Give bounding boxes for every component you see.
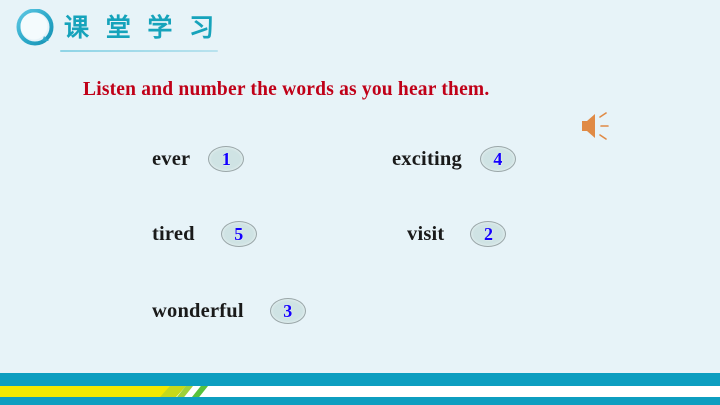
slide-header: 课 堂 学 习 xyxy=(14,6,314,54)
number-bubble[interactable]: 2 xyxy=(470,221,506,247)
number-bubble[interactable]: 3 xyxy=(270,298,306,324)
page-title: 课 堂 学 习 xyxy=(64,13,218,43)
word-item-visit[interactable]: visit 2 xyxy=(407,217,506,251)
word-label: wonderful xyxy=(152,300,244,323)
title-underline xyxy=(60,50,218,52)
word-item-exciting[interactable]: exciting 4 xyxy=(392,142,516,176)
footer-decoration xyxy=(0,373,720,405)
footer-band-bottom xyxy=(0,397,720,405)
number-value: 2 xyxy=(484,225,493,243)
word-item-ever[interactable]: ever 1 xyxy=(152,142,244,176)
word-label: exciting xyxy=(392,148,462,171)
number-value: 5 xyxy=(234,225,243,243)
word-item-tired[interactable]: tired 5 xyxy=(152,217,257,251)
number-bubble[interactable]: 1 xyxy=(208,146,244,172)
word-row: tired 5 visit 2 xyxy=(0,217,720,257)
number-bubble[interactable]: 5 xyxy=(221,221,257,247)
word-row: ever 1 exciting 4 xyxy=(0,142,720,182)
number-value: 3 xyxy=(283,302,292,320)
number-value: 4 xyxy=(493,150,502,168)
number-bubble[interactable]: 4 xyxy=(480,146,516,172)
word-item-wonderful[interactable]: wonderful 3 xyxy=(152,294,306,328)
word-label: visit xyxy=(407,223,444,246)
word-label: tired xyxy=(152,223,195,246)
footer-yellow-stripe xyxy=(0,386,172,397)
number-value: 1 xyxy=(222,150,231,168)
ring-circle-icon xyxy=(16,9,54,47)
slide-canvas: 课 堂 学 习 Listen and number the words as y… xyxy=(0,0,720,405)
word-label: ever xyxy=(152,148,190,171)
footer-band-top xyxy=(0,373,720,386)
instruction-text: Listen and number the words as you hear … xyxy=(83,79,489,101)
word-row: wonderful 3 xyxy=(0,294,720,334)
speaker-icon[interactable] xyxy=(578,109,618,143)
